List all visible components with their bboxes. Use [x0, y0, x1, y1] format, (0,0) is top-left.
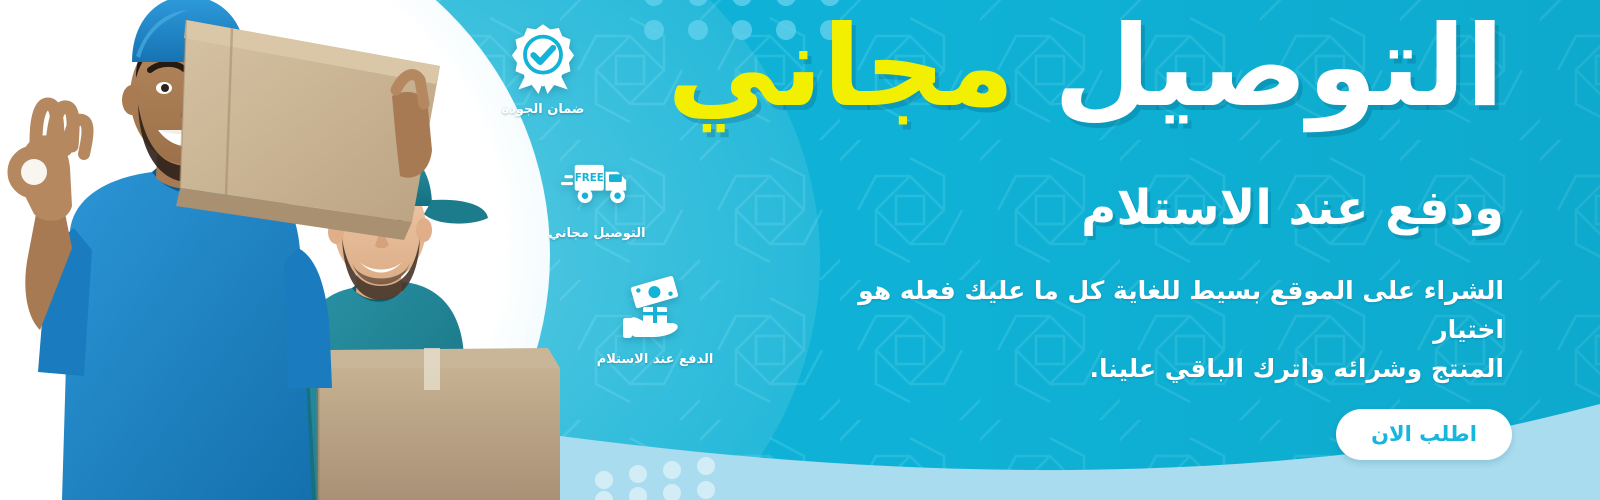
quality-badge-check-icon: [507, 22, 579, 94]
headline-word-white: التوصيل: [1054, 2, 1504, 132]
feature-label: ضمان الجودة: [502, 102, 585, 117]
feature-quality-guarantee[interactable]: ضمان الجودة: [458, 22, 628, 117]
feature-label: التوصيل مجاني: [548, 226, 645, 241]
cardboard-box-shoulder: [176, 20, 440, 240]
body-line-1: الشراء على الموقع بسيط للغاية كل ما عليك…: [804, 272, 1504, 350]
free-delivery-truck-icon: FREE: [561, 146, 633, 218]
body-copy: الشراء على الموقع بسيط للغاية كل ما عليك…: [804, 272, 1504, 388]
body-line-2: المنتج وشرائه واترك الباقي علينا.: [804, 350, 1504, 389]
feature-label: الدفع عند الاستلام: [597, 352, 714, 367]
headline: التوصيل مجاني: [744, 10, 1504, 124]
cash-on-delivery-hand-icon: [619, 272, 691, 344]
headline-word-yellow: مجاني: [667, 2, 1014, 132]
svg-text:FREE: FREE: [575, 172, 604, 184]
banner-copy: التوصيل مجاني ودفع عند الاستلام الشراء ع…: [744, 0, 1504, 500]
promo-banner: ضمان الجودة FREE: [0, 0, 1600, 500]
feature-free-delivery[interactable]: FREE التوصيل مجاني: [512, 146, 682, 241]
subheadline: ودفع عند الاستلام: [744, 182, 1504, 235]
order-now-button[interactable]: اطلب الان: [1336, 409, 1512, 460]
feature-cash-on-delivery[interactable]: الدفع عند الاستلام: [570, 272, 740, 367]
